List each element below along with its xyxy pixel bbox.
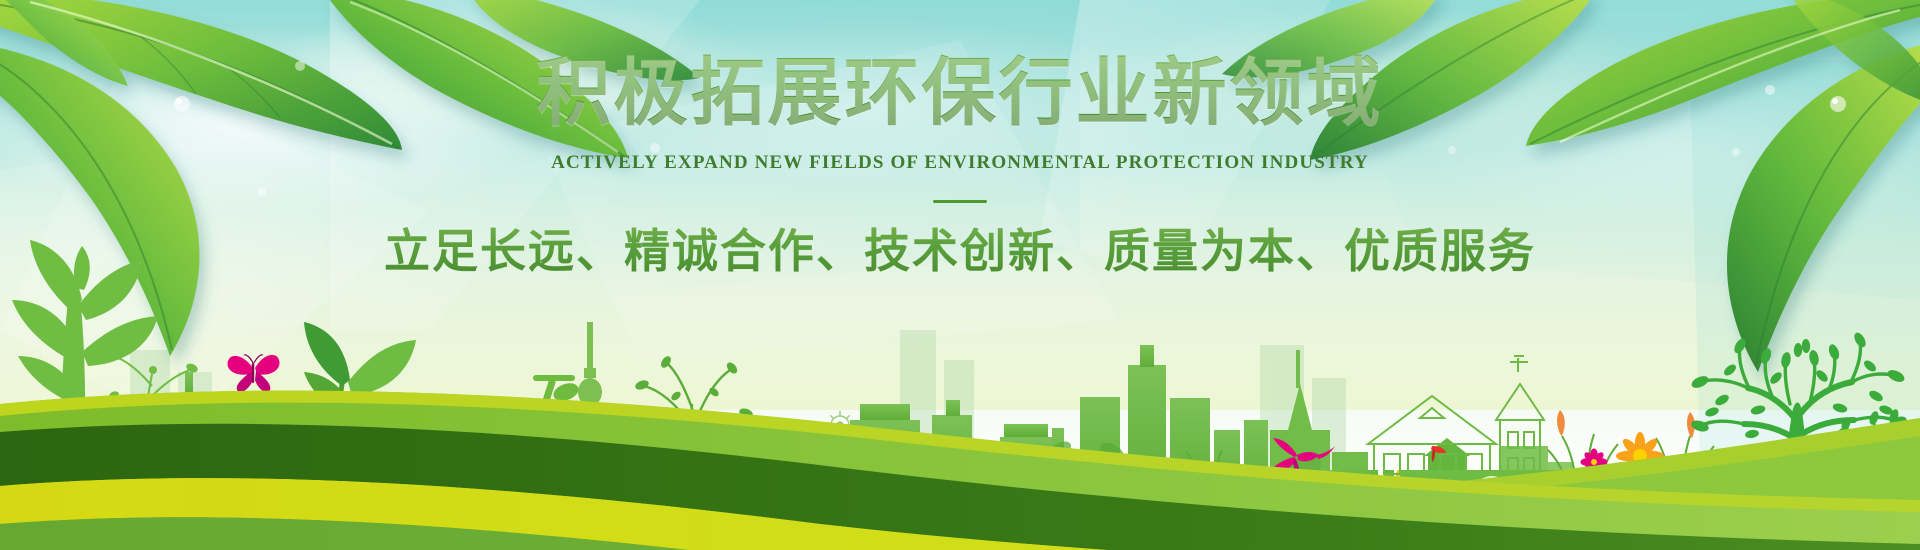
stem-plant-icon [116, 358, 190, 490]
branch-plant-icon [642, 364, 744, 500]
flower-icon [1581, 449, 1608, 476]
page-subtitle: ACTIVELY EXPAND NEW FIELDS OF ENVIRONMEN… [0, 152, 1920, 174]
page-tagline: 立足长远、精诚合作、技术创新、质量为本、优质服务 [0, 225, 1920, 279]
butterfly-icon [412, 401, 444, 417]
small-bird-icon [1427, 444, 1448, 465]
stem-leaf-icon [108, 350, 199, 410]
page-title: 积极拓展环保行业新领域 [0, 52, 1920, 136]
hummingbird-icon [1263, 438, 1335, 483]
butterfly-icon [228, 355, 280, 392]
dandelion-icon [826, 411, 854, 439]
city-blocks-left [126, 372, 340, 490]
sunflower-icon [1616, 432, 1664, 508]
tiny-flower-icon [1010, 487, 1019, 496]
tower-rings [584, 470, 596, 486]
flower-icon [865, 490, 885, 510]
gate-building-icon [1400, 470, 1590, 506]
city-skyline-icon [850, 345, 1268, 500]
low-wall-icon [1368, 438, 1470, 500]
title-divider [933, 200, 987, 203]
cattail-icon [1557, 410, 1695, 438]
ladybug-icon [998, 463, 1029, 492]
grass-icon [232, 398, 262, 486]
branch-icon [1822, 418, 1920, 462]
pointed-tower-icon [1270, 350, 1368, 500]
house-icon [1368, 356, 1544, 506]
bicycle-icon [406, 378, 607, 502]
berry-icon [605, 469, 625, 499]
bicycle-seat-icon [421, 380, 581, 469]
house-block-icon [1330, 446, 1574, 506]
city-blocks-mid [612, 414, 826, 490]
flower-icon [184, 433, 222, 471]
bush-icon [1043, 438, 1127, 492]
tree-icon [1690, 331, 1908, 490]
sprout-planter-icon [300, 322, 416, 490]
branch-leaf-icon [632, 354, 753, 462]
tower-leaf-overlay [1275, 448, 1325, 488]
grass-icon [966, 450, 1222, 506]
banner-text-block: 积极拓展环保行业新领域 ACTIVELY EXPAND NEW FIELDS O… [0, 52, 1920, 279]
eco-banner: 积极拓展环保行业新领域 ACTIVELY EXPAND NEW FIELDS O… [0, 0, 1920, 550]
grass-icon [1548, 434, 1714, 506]
leafy-bush-icon [215, 411, 246, 455]
ladybug-icon [1384, 469, 1415, 498]
flower-icon [961, 475, 990, 504]
pearl-tower-icon [564, 322, 616, 508]
